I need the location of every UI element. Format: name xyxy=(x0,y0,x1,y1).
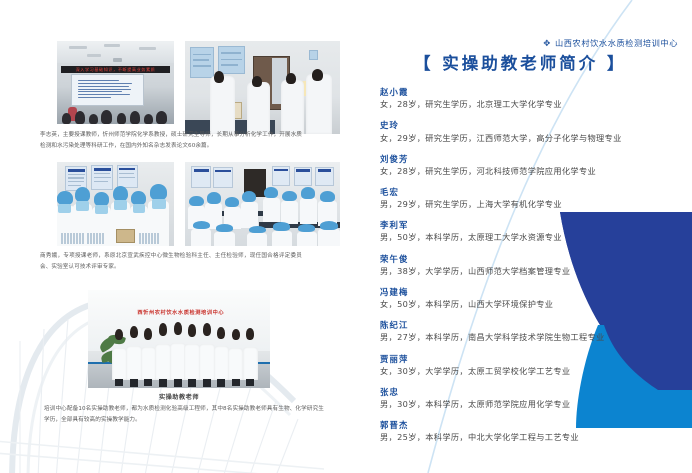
photo-team-group: 西忻州农村饮水水质检测培训中心 xyxy=(88,290,270,388)
photo-staff-review xyxy=(185,41,340,134)
photo-lecture-room: 深入学习基础知识，不断提高业务素质 xyxy=(57,41,174,124)
staff-detail: 男，38岁，大学学历，山西师范大学档案管理专业 xyxy=(380,265,680,279)
caption-assistants: 培训中心配备10名实操助教老师，都为水质检测化验高级工程师，其中8名实操助教老师… xyxy=(44,404,324,426)
photo-lab-tubes xyxy=(57,162,174,246)
staff-entry: 冯建梅 女，50岁，本科学历，山西大学环境保护专业 xyxy=(380,286,680,312)
brand-name: 山西农村饮水水质检测培训中心 xyxy=(555,38,678,48)
staff-list: 赵小霞 女，28岁，研究生学历，北京理工大学化学专业 史玲 女，29岁，研究生学… xyxy=(380,86,680,452)
staff-entry: 史玲 女，29岁，研究生学历，江西师范大学，高分子化学与物理专业 xyxy=(380,119,680,145)
staff-name: 李利军 xyxy=(380,219,680,231)
staff-name: 刘俊芳 xyxy=(380,153,680,165)
center-logo-icon: ✥ xyxy=(543,39,551,49)
staff-name: 张忠 xyxy=(380,386,680,398)
staff-detail: 女，50岁，本科学历，山西大学环境保护专业 xyxy=(380,298,680,312)
staff-name: 荣午俊 xyxy=(380,253,680,265)
staff-detail: 男，50岁，本科学历，太原理工大学水资源专业 xyxy=(380,231,680,245)
staff-name: 史玲 xyxy=(380,119,680,131)
staff-name: 郭晋杰 xyxy=(380,419,680,431)
staff-entry: 陈纪江 男，27岁，本科学历，南昌大学科学技术学院生物工程专业 xyxy=(380,319,680,345)
staff-entry: 李利军 男，50岁，本科学历，太原理工大学水资源专业 xyxy=(380,219,680,245)
page-title: 【 实操助教老师简介 】 xyxy=(414,50,627,74)
staff-entry: 荣午俊 男，38岁，大学学历，山西师范大学档案管理专业 xyxy=(380,253,680,279)
staff-detail: 女，28岁，研究生学历，河北科技师范学院应用化学专业 xyxy=(380,165,680,179)
staff-detail: 女，28岁，研究生学历，北京理工大学化学专业 xyxy=(380,98,680,112)
staff-name: 毛宏 xyxy=(380,186,680,198)
caption-lecturer-li: 李志英，主要授课教师，忻州师范学院化学系教授，硕士研究生导师，长期从事分析化学工… xyxy=(40,130,302,152)
staff-detail: 男，25岁，本科学历，中北大学化学工程与工艺专业 xyxy=(380,431,680,445)
staff-entry: 赵小霞 女，28岁，研究生学历，北京理工大学化学专业 xyxy=(380,86,680,112)
brochure-page: ✥山西农村饮水水质检测培训中心 【 实操助教老师简介 】 赵小霞 女，28岁，研… xyxy=(0,0,692,473)
staff-entry: 刘俊芳 女，28岁，研究生学历，河北科技师范学院应用化学专业 xyxy=(380,153,680,179)
staff-detail: 女，30岁，大学学历，太原工贸学校化学工艺专业 xyxy=(380,365,680,379)
caption-lecturer-shang: 商秀娥，专项授课老师，系原北京宣武疾控中心微生物检验科主任、主任检验师，现任国合… xyxy=(40,251,302,273)
photo-training-hall xyxy=(185,162,340,246)
staff-name: 贾丽萍 xyxy=(380,353,680,365)
staff-entry: 郭晋杰 男，25岁，本科学历，中北大学化学工程与工艺专业 xyxy=(380,419,680,445)
staff-detail: 男，27岁，本科学历，南昌大学科学技术学院生物工程专业 xyxy=(380,331,680,345)
staff-name: 陈纪江 xyxy=(380,319,680,331)
lecture-banner-text: 深入学习基础知识，不断提高业务素质 xyxy=(61,66,171,73)
staff-name: 赵小霞 xyxy=(380,86,680,98)
caption-label-assistants: 实操助教老师 xyxy=(88,392,270,401)
staff-entry: 毛宏 男，29岁，研究生学历，上海大学有机化学专业 xyxy=(380,186,680,212)
staff-entry: 贾丽萍 女，30岁，大学学历，太原工贸学校化学工艺专业 xyxy=(380,353,680,379)
staff-name: 冯建梅 xyxy=(380,286,680,298)
group-banner-text: 西忻州农村饮水水质检测培训中心 xyxy=(124,307,237,318)
staff-detail: 女，29岁，研究生学历，江西师范大学，高分子化学与物理专业 xyxy=(380,132,680,146)
staff-entry: 张忠 男，30岁，本科学历，太原师范学院应用化学专业 xyxy=(380,386,680,412)
staff-detail: 男，30岁，本科学历，太原师范学院应用化学专业 xyxy=(380,398,680,412)
staff-detail: 男，29岁，研究生学历，上海大学有机化学专业 xyxy=(380,198,680,212)
